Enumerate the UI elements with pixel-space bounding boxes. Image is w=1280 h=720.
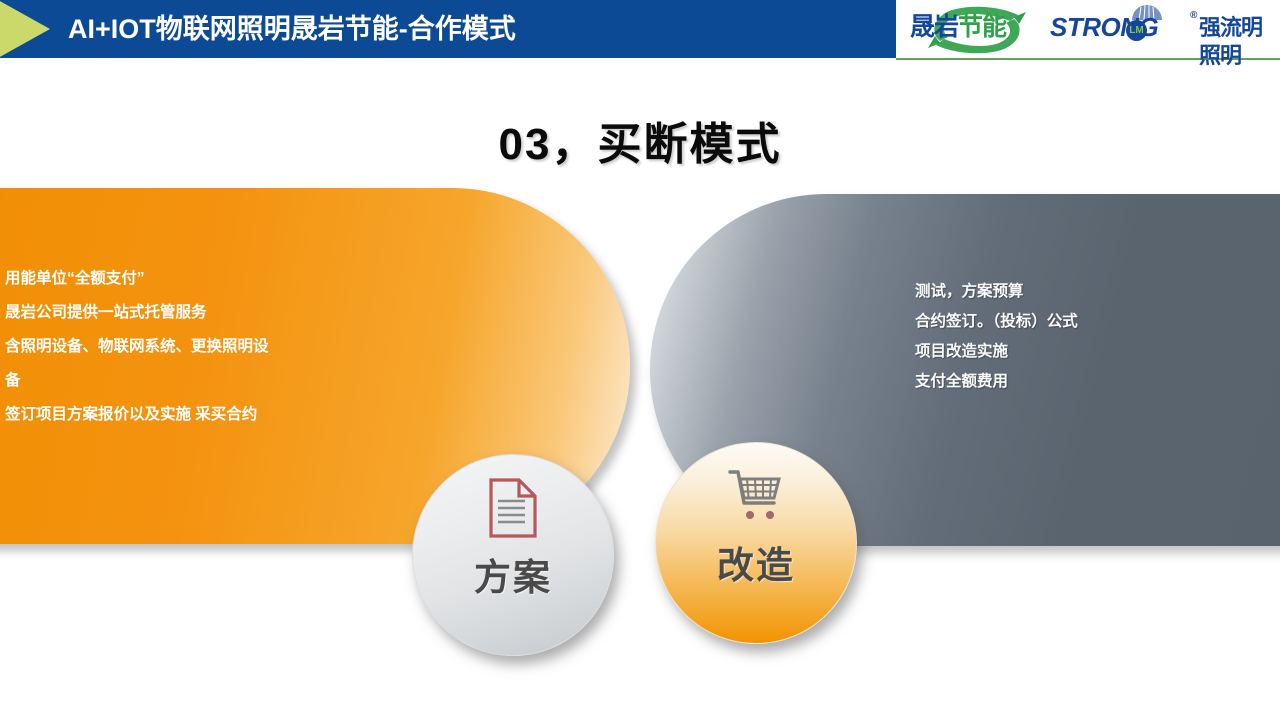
retrofit-circle[interactable]: 改造	[655, 442, 857, 644]
left-panel-text-block: 用能单位“全额支付” 晟岩公司提供一站式托管服务 含照明设备、物联网系统、更换照…	[5, 262, 435, 432]
plan-circle-label: 方案	[474, 547, 552, 601]
right-panel-line: 测试，方案预算	[915, 277, 1280, 307]
retrofit-circle-label: 改造	[717, 535, 795, 589]
logo-lm-badge: LM	[1126, 20, 1147, 41]
document-icon	[487, 477, 539, 539]
left-panel-line: 用能单位“全额支付”	[5, 262, 435, 296]
logo-brand-green: 节能	[958, 13, 1006, 41]
left-panel-line: 备	[5, 364, 435, 398]
green-arrow-icon	[0, 0, 50, 58]
content-area: 用能单位“全额支付” 晟岩公司提供一站式托管服务 含照明设备、物联网系统、更换照…	[0, 188, 1280, 588]
shopping-cart-icon	[727, 465, 785, 527]
slide-header: AI+IOT物联网照明晟岩节能-合作模式 晟岩节能	[0, 0, 1280, 60]
page-title: 03，买断模式	[0, 108, 1280, 172]
logo-tagline: 强流明照明	[1199, 14, 1278, 70]
left-panel-line: 含照明设备、物联网系统、更换照明设	[5, 330, 435, 364]
right-panel-line: 支付全额费用	[915, 367, 1280, 397]
plan-circle[interactable]: 方案	[412, 454, 614, 656]
left-panel-line: 晟岩公司提供一站式托管服务	[5, 296, 435, 330]
logo-chinese-brand: 晟岩节能	[910, 12, 1006, 42]
logo-registered-mark: ®	[1190, 10, 1197, 21]
logo-brand-dark: 晟岩	[910, 13, 958, 41]
left-panel-line: 签订项目方案报价以及实施 采买合约	[5, 398, 435, 432]
right-panel-line: 合约签订。（投标）公式	[915, 307, 1280, 337]
slide-root: AI+IOT物联网照明晟岩节能-合作模式 晟岩节能	[0, 0, 1280, 720]
right-panel-line: 项目改造实施	[915, 337, 1280, 367]
header-title: AI+IOT物联网照明晟岩节能-合作模式	[68, 8, 516, 50]
company-logo: 晟岩节能 STRONG LM ® 强流明照明	[896, 0, 1280, 60]
right-panel-text-block: 测试，方案预算 合约签订。（投标）公式 项目改造实施 支付全额费用	[915, 277, 1280, 397]
